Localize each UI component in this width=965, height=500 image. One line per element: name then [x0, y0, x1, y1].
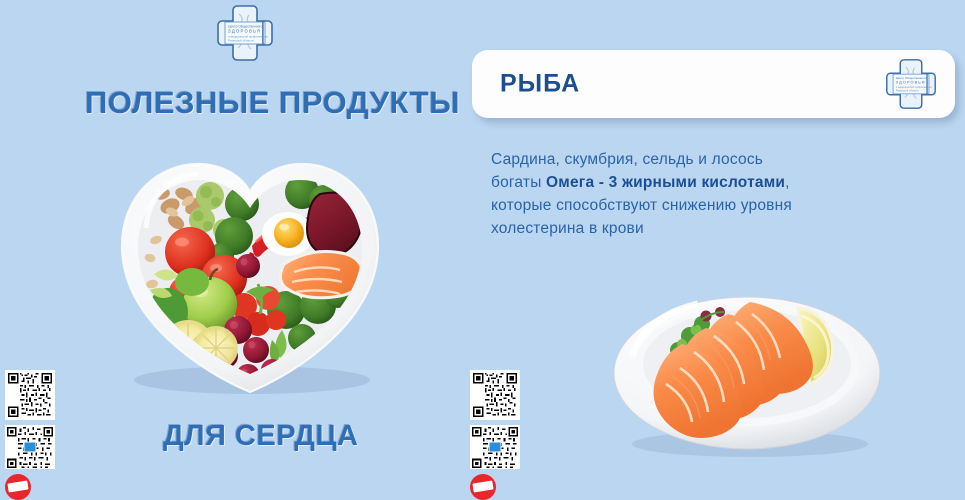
topic-card: РЫБА Центр Общественного ЗДОРОВЬЯ и меди…	[472, 50, 955, 118]
svg-text:ЗДОРОВЬЯ: ЗДОРОВЬЯ	[896, 81, 926, 85]
body-line-2-suffix: ,	[785, 174, 790, 191]
qr-code-bottom-middle[interactable]	[470, 425, 520, 469]
qr-block-middle[interactable]: 8 800 200 0 200 TAKZDOROVO.RU	[470, 370, 532, 500]
logo-health-center-top: Центр Общественного ЗДОРОВЬЯ и медицинск…	[216, 4, 274, 62]
qr-code-top-left[interactable]	[5, 370, 55, 420]
page-title-bottom: ДЛЯ СЕРДЦА	[163, 420, 359, 453]
hotline-site-value: TAKZDOROVO.RU	[470, 474, 471, 475]
svg-text:Центр Общественного: Центр Общественного	[896, 76, 927, 80]
takzdorovo-logo-icon	[470, 474, 496, 500]
telegram-badge-icon	[24, 442, 37, 453]
svg-text:ЗДОРОВЬЯ: ЗДОРОВЬЯ	[228, 29, 261, 34]
logo-line-2: ЗДОРОВЬЯ	[216, 62, 217, 63]
hotline-badge-left: 8 800 200 0 200 TAKZDOROVO.RU	[5, 474, 67, 500]
salmon-bowl-photo	[602, 278, 892, 460]
body-line-1: Сардина, скумбрия, сельдь и лосось	[491, 148, 891, 171]
body-line-2-prefix: богаты	[491, 174, 546, 191]
card-title: РЫБА	[500, 70, 580, 99]
heart-plate-photo	[106, 134, 394, 398]
hotline-phone-value: 8 800 200 0 200	[470, 474, 471, 475]
logo-health-center-card: Центр Общественного ЗДОРОВЬЯ и медицинск…	[885, 58, 937, 110]
svg-text:Рязанской области: Рязанской области	[896, 89, 919, 93]
takzdorovo-logo-icon	[5, 474, 31, 500]
body-text: Сардина, скумбрия, сельдь и лосось богат…	[491, 148, 891, 240]
body-line-4: холестерина в крови	[491, 217, 891, 240]
qr-block-left[interactable]: 8 800 200 0 200 TAKZDOROVO.RU	[5, 370, 67, 500]
telegram-badge-icon	[489, 442, 502, 453]
svg-text:и медицинской профилактики: и медицинской профилактики	[896, 85, 933, 89]
qr-code-bottom-left[interactable]	[5, 425, 55, 469]
qr-code-top-middle[interactable]	[470, 370, 520, 420]
svg-text:Рязанской области: Рязанской области	[228, 39, 254, 43]
page-title-top: ПОЛЕЗНЫЕ ПРОДУКТЫ	[85, 85, 460, 121]
body-line-2-emphasis: Омега - 3 жирными кислотами	[546, 174, 785, 191]
hotline-site-value: TAKZDOROVO.RU	[5, 474, 6, 475]
hotline-phone-value: 8 800 200 0 200	[5, 474, 6, 475]
body-line-2: богаты Омега - 3 жирными кислотами,	[491, 171, 891, 194]
body-line-3: которые способствуют снижению уровня	[491, 194, 891, 217]
hotline-badge-middle: 8 800 200 0 200 TAKZDOROVO.RU	[470, 474, 532, 500]
poster-canvas: Центр Общественного ЗДОРОВЬЯ и медицинск…	[0, 0, 965, 500]
